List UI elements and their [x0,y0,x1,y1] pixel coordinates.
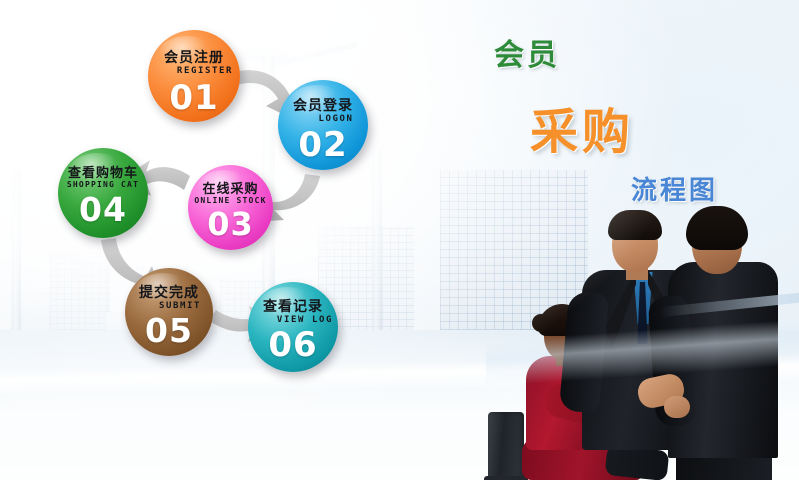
flow-step-submit[interactable]: 提交完成 SUBMIT 05 [125,268,213,356]
flow-step-shopping-cart[interactable]: 查看购物车 SHOPPING CAT 04 [58,148,148,238]
flow-step-label-cn: 在线采购 [188,178,273,197]
flow-step-label-cn: 会员注册 [148,47,240,67]
flow-step-label-cn: 会员登录 [278,95,368,115]
flow-step-number: 03 [188,205,273,243]
flow-step-label-cn: 查看购物车 [58,162,148,181]
flow-step-number: 02 [278,125,368,165]
flow-step-label-cn: 查看记录 [248,296,338,316]
flow-step-logon[interactable]: 会员登录 LOGON 02 [278,80,368,170]
headline-line-2: 采购 [530,92,634,162]
flow-step-number: 05 [125,311,213,350]
flow-step-label-cn: 提交完成 [125,282,213,302]
flow-step-label-en: LOGON [278,114,368,124]
headline-line-3: 流程图 [631,170,718,207]
flow-step-number: 04 [58,190,148,229]
flow-step-register[interactable]: 会员注册 REGISTER 01 [148,30,240,122]
flow-step-label-en: SUBMIT [125,301,213,311]
flow-step-label-en: VIEW LOG [248,315,338,325]
flow-step-number: 01 [148,78,240,118]
flow-step-label-en: REGISTER [148,66,240,76]
membership-purchase-flow-banner: 会员注册 REGISTER 01 会员登录 LOGON 02 在线采购 ONLI… [0,0,799,480]
flow-step-view-log[interactable]: 查看记录 VIEW LOG 06 [248,282,338,372]
flow-step-label-en: ONLINE STOCK [188,196,273,205]
white-vignette [0,0,799,480]
flow-step-label-en: SHOPPING CAT [58,180,148,189]
flow-step-number: 06 [248,325,338,365]
flow-step-online-stock[interactable]: 在线采购 ONLINE STOCK 03 [188,165,273,250]
headline-line-1: 会员 [494,30,560,74]
